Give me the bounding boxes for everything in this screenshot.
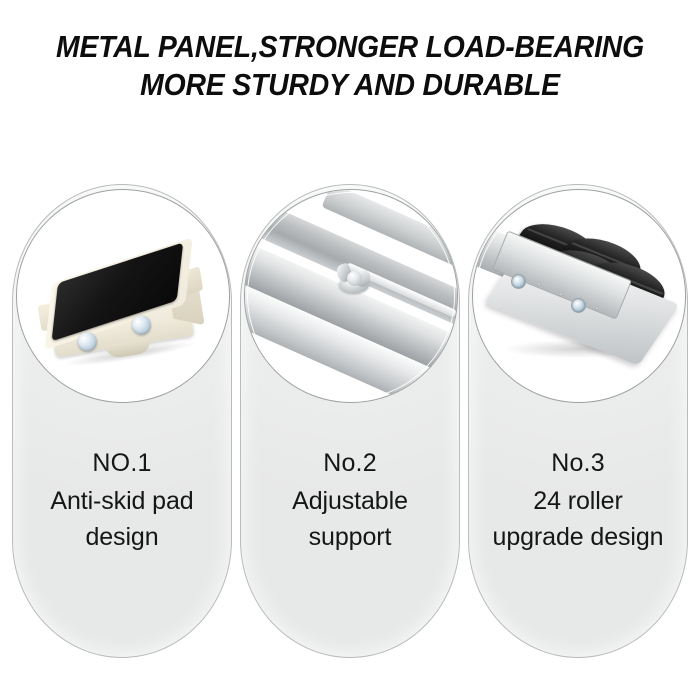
product-photo-adjustable-support (244, 189, 458, 403)
headline-line-2: MORE STURDY AND DURABLE (25, 66, 676, 104)
panel-2-number: No.2 (247, 443, 453, 483)
headline-block: METAL PANEL,STRONGER LOAD-BEARING MORE S… (0, 28, 700, 104)
feature-panel-row: NO.1 Anti-skid pad design (12, 184, 688, 658)
product-photo-anti-skid-pad (16, 189, 230, 403)
bracket-rivet-3 (595, 306, 599, 310)
panel-2-caption-line-2: support (247, 519, 453, 555)
photo-stage (17, 190, 229, 402)
support-bars-illustration (245, 190, 457, 402)
panel-3-caption-line-1: 24 roller (475, 483, 681, 519)
panel-1-caption: NO.1 Anti-skid pad design (13, 443, 231, 555)
feature-panel-2: No.2 Adjustable support (240, 184, 460, 658)
panel-1-number: NO.1 (19, 443, 225, 483)
bracket-screw-1 (511, 274, 526, 289)
bracket-rivet-2 (559, 292, 563, 296)
wing-nut-screw (337, 262, 371, 296)
feature-panel-3: No.3 24 roller upgrade design (468, 184, 688, 658)
panel-2-caption-line-1: Adjustable (247, 483, 453, 519)
dolly-illustration (37, 250, 211, 366)
panel-3-caption: No.3 24 roller upgrade design (469, 443, 687, 555)
photo-stage (245, 190, 457, 402)
feature-panel-1: NO.1 Anti-skid pad design (12, 184, 232, 658)
panel-1-caption-line-1: Anti-skid pad (19, 483, 225, 519)
headline-line-1: METAL PANEL,STRONGER LOAD-BEARING (25, 28, 676, 66)
panel-1-caption-line-2: design (19, 519, 225, 555)
bracket-screw-2 (571, 298, 586, 313)
bracket-rivet-1 (537, 282, 541, 286)
panel-3-caption-line-2: upgrade design (475, 519, 681, 555)
roller-illustration (473, 190, 685, 402)
wing-nut-knob (347, 271, 362, 286)
photo-stage (473, 190, 685, 402)
product-photo-roller-assembly (472, 189, 686, 403)
panel-3-number: No.3 (475, 443, 681, 483)
panel-2-caption: No.2 Adjustable support (241, 443, 459, 555)
